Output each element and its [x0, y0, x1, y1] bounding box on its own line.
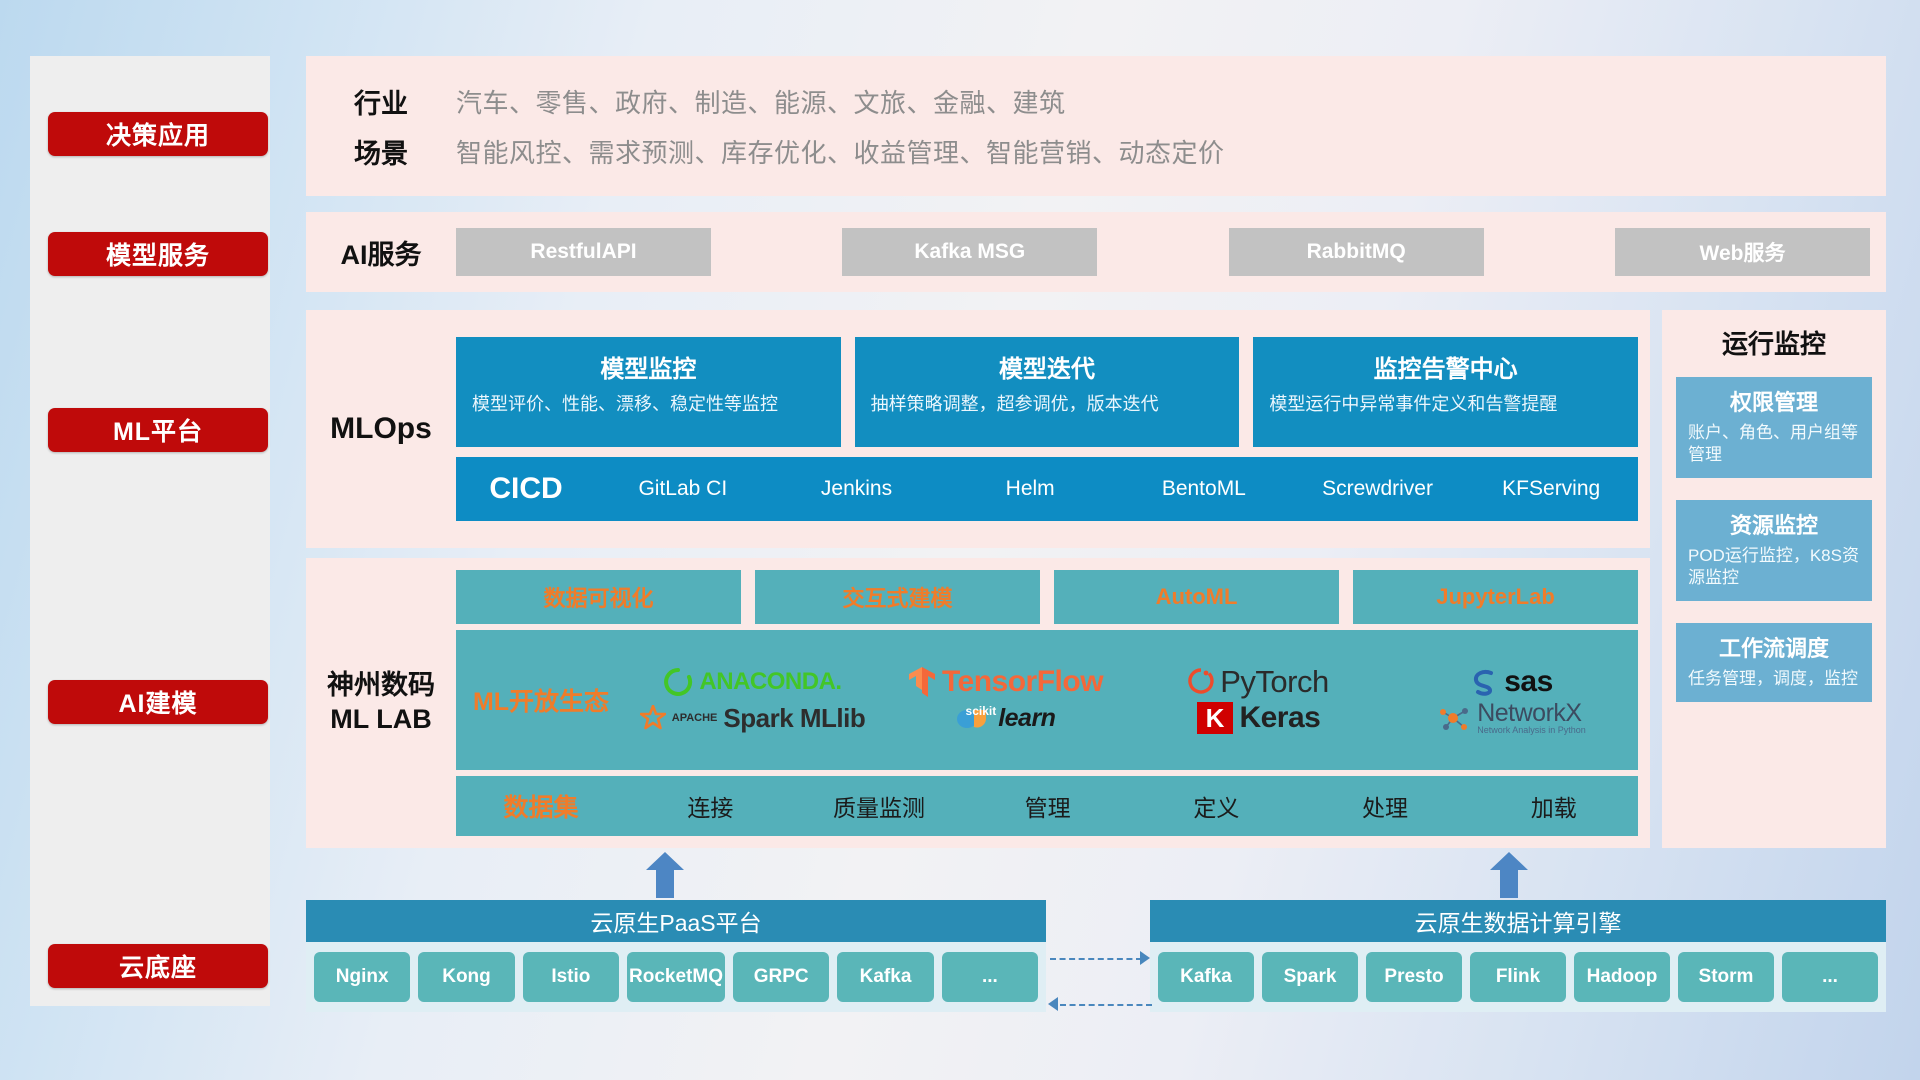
ml-lab-label-line1: 神州数码 [306, 669, 456, 703]
mlops-content: 模型监控 模型评价、性能、漂移、稳定性等监控 模型迭代 抽样策略调整，超参调优，… [456, 337, 1650, 521]
monitor-card-resource[interactable]: 资源监控 POD运行监控，K8S资源监控 [1676, 500, 1872, 601]
dataset-item[interactable]: 加载 [1469, 789, 1638, 823]
industry-scenario-panel: 行业 汽车、零售、政府、制造、能源、文旅、金融、建筑 场景 智能风控、需求预测、… [306, 56, 1886, 196]
cloud-chip[interactable]: Hadoop [1574, 952, 1670, 1002]
ai-service-chip[interactable]: Web服务 [1615, 228, 1870, 276]
rail-item-decision-app[interactable]: 决策应用 [48, 112, 268, 156]
tensorflow-mark-icon [908, 666, 936, 698]
ml-lab-content: 数据可视化 交互式建模 AutoML JupyterLab ML开放生态 ANA… [456, 570, 1650, 836]
dataset-item[interactable]: 质量监测 [795, 789, 964, 823]
monitor-card-title: 权限管理 [1688, 385, 1860, 417]
cloud-chip[interactable]: Nginx [314, 952, 410, 1002]
rail-item-cloud-base[interactable]: 云底座 [48, 944, 268, 988]
mlops-card-desc: 模型运行中异常事件定义和告警提醒 [1269, 392, 1622, 416]
diagram-root: 决策应用 模型服务 ML平台 AI建模 云底座 行业 汽车、零售、政府、制造、能… [0, 0, 1920, 1080]
left-rail [30, 56, 270, 1006]
monitor-card-workflow[interactable]: 工作流调度 任务管理，调度，监控 [1676, 623, 1872, 702]
spark-mllib-wordmark: Spark MLlib [723, 703, 865, 734]
cloud-paas-chip-list: Nginx Kong Istio RocketMQ GRPC Kafka ... [306, 942, 1046, 1012]
cloud-chip[interactable]: Spark [1262, 952, 1358, 1002]
connector-left-line [1060, 1004, 1152, 1006]
dataset-label: 数据集 [456, 788, 626, 824]
ml-lab-label-line2: ML LAB [306, 703, 456, 737]
connector-right-arrowhead-icon [1140, 951, 1150, 965]
dataset-item[interactable]: 处理 [1301, 789, 1470, 823]
cloud-data-engine-box: 云原生数据计算引擎 Kafka Spark Presto Flink Hadoo… [1150, 900, 1886, 1012]
dataset-item[interactable]: 定义 [1132, 789, 1301, 823]
cloud-paas-title: 云原生PaaS平台 [306, 900, 1046, 942]
tensorflow-logo: TensorFlow [908, 665, 1103, 699]
anaconda-logo: ANACONDA. [663, 667, 841, 697]
rail-item-label: 云底座 [119, 948, 197, 984]
industry-value: 汽车、零售、政府、制造、能源、文旅、金融、建筑 [456, 83, 1066, 120]
run-monitoring-panel: 运行监控 权限管理 账户、角色、用户组等管理 资源监控 POD运行监控，K8S资… [1662, 310, 1886, 848]
dataset-item[interactable]: 管理 [963, 789, 1132, 823]
ai-service-chip[interactable]: RestfulAPI [456, 228, 711, 276]
monitor-card-title: 工作流调度 [1688, 631, 1860, 663]
cicd-item[interactable]: Screwdriver [1291, 478, 1465, 500]
ml-lab-panel: 神州数码 ML LAB 数据可视化 交互式建模 AutoML JupyterLa… [306, 558, 1650, 848]
scenario-value: 智能风控、需求预测、库存优化、收益管理、智能营销、动态定价 [456, 133, 1225, 170]
connector-right-line [1050, 958, 1142, 960]
keras-mark-icon: K [1197, 702, 1234, 735]
rail-item-ai-modeling[interactable]: AI建模 [48, 680, 268, 724]
cicd-item[interactable]: BentoML [1117, 478, 1291, 500]
cloud-chip[interactable]: Flink [1470, 952, 1566, 1002]
networkx-wordmark: NetworkX [1477, 701, 1586, 726]
spark-mllib-logo: APACHE Spark MLlib [640, 703, 866, 734]
cloud-data-engine-chip-list: Kafka Spark Presto Flink Hadoop Storm ..… [1150, 942, 1886, 1012]
networkx-logo: NetworkX Network Analysis in Python [1437, 701, 1586, 735]
spark-star-icon [640, 705, 666, 731]
keras-wordmark: Keras [1239, 701, 1320, 735]
rail-item-ml-platform[interactable]: ML平台 [48, 408, 268, 452]
cloud-chip[interactable]: Presto [1366, 952, 1462, 1002]
sas-logo: sas [1470, 665, 1553, 699]
scenario-row: 场景 智能风控、需求预测、库存优化、收益管理、智能营销、动态定价 [306, 126, 1886, 176]
cicd-item-list: GitLab CI Jenkins Helm BentoML Screwdriv… [596, 478, 1638, 500]
mlops-card-desc: 模型评价、性能、漂移、稳定性等监控 [472, 392, 825, 416]
cloud-chip[interactable]: Kong [418, 952, 514, 1002]
ml-lab-tool-data-viz[interactable]: 数据可视化 [456, 570, 741, 624]
mlops-card-desc: 抽样策略调整，超参调优，版本迭代 [871, 392, 1224, 416]
ecosystem-logo-grid: ANACONDA. TensorFlow [626, 664, 1638, 736]
cicd-item[interactable]: Helm [943, 478, 1117, 500]
spark-apache-tag: APACHE [672, 712, 718, 724]
cloud-chip[interactable]: Kafka [837, 952, 933, 1002]
ml-open-ecosystem-label: ML开放生态 [456, 682, 626, 718]
cloud-chip[interactable]: Kafka [1158, 952, 1254, 1002]
mlops-card-list: 模型监控 模型评价、性能、漂移、稳定性等监控 模型迭代 抽样策略调整，超参调优，… [456, 337, 1638, 447]
networkx-tagline: Network Analysis in Python [1477, 726, 1586, 735]
scikit-small-text: scikit [966, 704, 997, 718]
sas-wordmark: sas [1504, 665, 1553, 699]
mlops-card-title: 监控告警中心 [1269, 349, 1622, 384]
ml-lab-tool-automl[interactable]: AutoML [1054, 570, 1339, 624]
cloud-chip[interactable]: ... [942, 952, 1038, 1002]
rail-item-model-service[interactable]: 模型服务 [48, 232, 268, 276]
pytorch-logo: PyTorch [1188, 664, 1328, 700]
up-arrow-data-engine-icon [1490, 852, 1528, 898]
scenario-label: 场景 [306, 132, 456, 171]
mlops-card-alert-center[interactable]: 监控告警中心 模型运行中异常事件定义和告警提醒 [1253, 337, 1638, 447]
pytorch-flame-icon [1188, 667, 1214, 697]
cloud-chip[interactable]: RocketMQ [627, 952, 725, 1002]
dataset-item-list: 连接 质量监测 管理 定义 处理 加载 [626, 789, 1638, 823]
scikit-learn-logo: scikit learn [956, 704, 1056, 733]
mlops-card-model-iteration[interactable]: 模型迭代 抽样策略调整，超参调优，版本迭代 [855, 337, 1240, 447]
cicd-bar: CICD GitLab CI Jenkins Helm BentoML Scre… [456, 457, 1638, 521]
anaconda-ring-icon [663, 667, 693, 697]
cloud-chip[interactable]: Storm [1678, 952, 1774, 1002]
industry-row: 行业 汽车、零售、政府、制造、能源、文旅、金融、建筑 [306, 76, 1886, 126]
monitor-card-desc: POD运行监控，K8S资源监控 [1688, 545, 1860, 589]
ml-lab-tool-interactive[interactable]: 交互式建模 [755, 570, 1040, 624]
rail-item-label: AI建模 [118, 684, 197, 720]
mlops-card-title: 模型监控 [472, 349, 825, 384]
ml-lab-label: 神州数码 ML LAB [306, 669, 456, 737]
monitor-card-permission[interactable]: 权限管理 账户、角色、用户组等管理 [1676, 377, 1872, 478]
mlops-label: MLOps [306, 412, 456, 446]
monitor-card-desc: 账户、角色、用户组等管理 [1688, 422, 1860, 466]
pytorch-wordmark: PyTorch [1220, 664, 1328, 700]
rail-item-label: ML平台 [113, 412, 203, 448]
sas-mark-icon [1470, 667, 1498, 697]
anaconda-wordmark: ANACONDA. [699, 668, 841, 696]
ai-service-label: AI服务 [306, 233, 456, 272]
networkx-graph-icon [1437, 703, 1471, 733]
mlops-card-title: 模型迭代 [871, 349, 1224, 384]
scikit-learn-wordmark: learn [998, 704, 1055, 733]
run-monitoring-title: 运行监控 [1676, 324, 1872, 361]
up-arrow-paas-icon [646, 852, 684, 898]
monitor-card-title: 资源监控 [1688, 508, 1860, 540]
cicd-item[interactable]: Jenkins [770, 478, 944, 500]
industry-label: 行业 [306, 82, 456, 121]
rail-item-label: 决策应用 [106, 116, 210, 152]
ai-service-chip-list: RestfulAPI Kafka MSG RabbitMQ Web服务 [456, 228, 1886, 276]
cloud-chip[interactable]: Istio [523, 952, 619, 1002]
ai-service-chip[interactable]: RabbitMQ [1229, 228, 1484, 276]
cloud-data-engine-title: 云原生数据计算引擎 [1150, 900, 1886, 942]
ml-lab-tool-jupyterlab[interactable]: JupyterLab [1353, 570, 1638, 624]
ml-lab-tool-list: 数据可视化 交互式建模 AutoML JupyterLab [456, 570, 1638, 624]
cloud-chip[interactable]: ... [1782, 952, 1878, 1002]
monitor-card-desc: 任务管理，调度，监控 [1688, 668, 1860, 690]
ai-service-panel: AI服务 RestfulAPI Kafka MSG RabbitMQ Web服务 [306, 212, 1886, 292]
keras-logo: K Keras [1197, 701, 1321, 735]
ai-service-chip[interactable]: Kafka MSG [842, 228, 1097, 276]
mlops-card-model-monitoring[interactable]: 模型监控 模型评价、性能、漂移、稳定性等监控 [456, 337, 841, 447]
rail-item-label: 模型服务 [106, 236, 210, 272]
tensorflow-wordmark: TensorFlow [942, 665, 1103, 699]
connector-left-arrowhead-icon [1048, 997, 1058, 1011]
cicd-item[interactable]: GitLab CI [596, 478, 770, 500]
dataset-bar: 数据集 连接 质量监测 管理 定义 处理 加载 [456, 776, 1638, 836]
mlops-panel: MLOps 模型监控 模型评价、性能、漂移、稳定性等监控 模型迭代 抽样策略调整… [306, 310, 1650, 548]
cloud-chip[interactable]: GRPC [733, 952, 829, 1002]
cloud-paas-box: 云原生PaaS平台 Nginx Kong Istio RocketMQ GRPC… [306, 900, 1046, 1012]
ml-open-ecosystem: ML开放生态 ANACONDA. [456, 630, 1638, 770]
cicd-label: CICD [456, 472, 596, 506]
cicd-item[interactable]: KFServing [1464, 478, 1638, 500]
dataset-item[interactable]: 连接 [626, 789, 795, 823]
